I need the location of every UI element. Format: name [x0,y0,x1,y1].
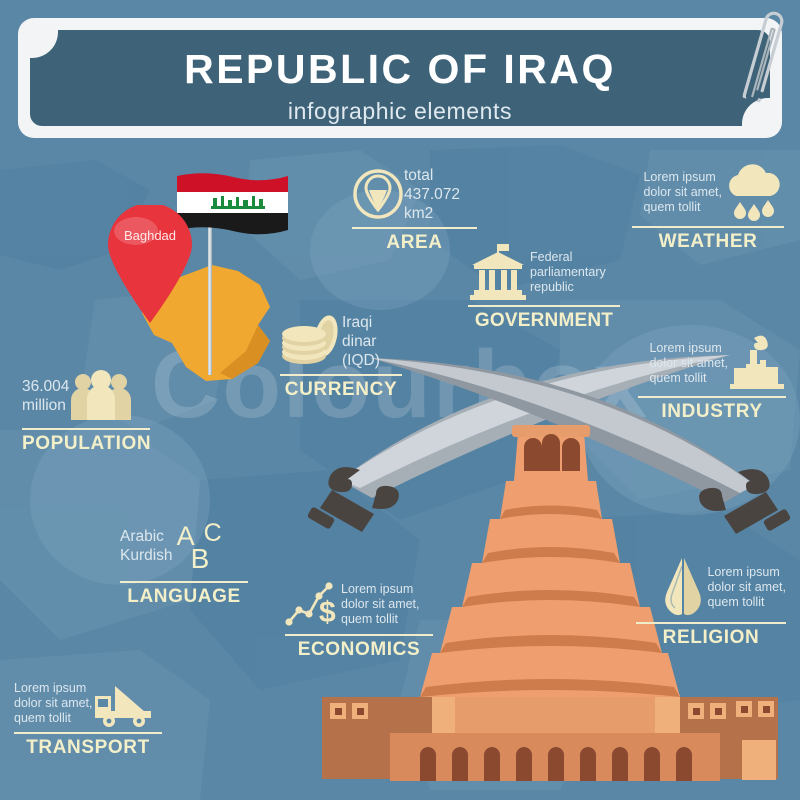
stat-currency-value: Iraqi dinar (IQD) [342,313,380,370]
growth-chart-dollar-icon: $ [285,578,341,630]
stat-population[interactable]: 36.004 million POPULATION [22,368,150,455]
divider [280,374,402,376]
stat-language-label: LANGUAGE [120,586,248,608]
divider [352,227,477,229]
divider [468,305,620,307]
divider [636,622,786,624]
dump-truck-icon [93,678,155,728]
stat-population-value: 36.004 million [22,377,69,415]
stat-government-label: GOVERNMENT [468,310,620,332]
stat-religion-label: RELIGION [636,627,786,649]
divider [120,581,248,583]
stat-area-value: total 437.072 km2 [404,166,460,223]
stat-government-value: Federal parliamentary republic [530,250,606,295]
stat-currency[interactable]: Iraqi dinar (IQD) CURRENCY [280,313,402,401]
stat-industry[interactable]: Lorem ipsum dolor sit amet, quem tollit … [638,334,786,423]
stat-government[interactable]: Federal parliamentary republic GOVERNMEN… [468,243,620,332]
stat-weather-label: WEATHER [632,231,784,253]
divider [285,634,433,636]
baghdad-map-pin-icon [100,205,200,325]
location-pin-circle-icon [352,165,404,223]
divider [638,396,786,398]
stat-transport-label: TRANSPORT [14,737,162,759]
stat-religion-value: Lorem ipsum dolor sit amet, quem tollit [707,565,786,610]
stat-industry-value: Lorem ipsum dolor sit amet, quem tollit [649,341,728,386]
stat-economics[interactable]: $ Lorem ipsum dolor sit amet, quem tolli… [285,578,433,661]
stat-transport-value: Lorem ipsum dolor sit amet, quem tollit [14,681,93,726]
stat-religion[interactable]: Lorem ipsum dolor sit amet, quem tollit … [636,556,786,649]
baghdad-label: Baghdad [113,228,187,243]
stat-language[interactable]: Arabic Kurdish A C B LANGUAGE [120,525,248,608]
header-banner: REPUBLIC OF IRAQ infographic elements [18,18,782,138]
government-building-icon [468,243,530,301]
divider [632,226,784,228]
stat-currency-label: CURRENCY [280,379,402,401]
stat-area[interactable]: total 437.072 km2 AREA [352,165,477,254]
svg-text:$: $ [319,596,336,629]
stat-weather[interactable]: Lorem ipsum dolor sit amet, quem tollit … [632,162,784,253]
stat-language-value: Arabic Kurdish [120,525,173,565]
stat-population-label: POPULATION [22,433,150,455]
page-title: REPUBLIC OF IRAQ [30,46,770,93]
divider [22,428,150,430]
page-subtitle: infographic elements [30,98,770,125]
factory-icon [728,334,786,392]
stat-economics-value: Lorem ipsum dolor sit amet, quem tollit [341,582,420,627]
people-group-icon [69,368,133,424]
praying-hands-icon [659,556,707,618]
stat-transport[interactable]: Lorem ipsum dolor sit amet, quem tollit … [14,678,162,759]
coins-icon [280,314,342,370]
header-panel: REPUBLIC OF IRAQ infographic elements [30,30,770,126]
rain-cloud-icon [722,162,784,222]
alphabet-letters-icon: A C B [173,525,229,577]
stat-economics-label: ECONOMICS [285,639,433,661]
infographic-canvas: Colourbox REPUBLIC OF IRAQ infographic e… [0,0,800,800]
stat-weather-value: Lorem ipsum dolor sit amet, quem tollit [643,170,722,215]
stat-industry-label: INDUSTRY [638,401,786,423]
stat-area-label: AREA [352,232,477,254]
divider [14,732,162,734]
